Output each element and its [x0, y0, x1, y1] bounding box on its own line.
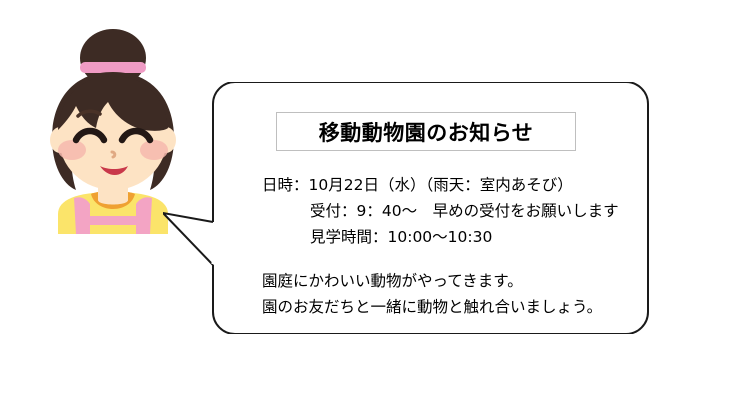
info-line-viewing-time: 見学時間：10:00～10:30	[262, 224, 642, 250]
message-line-2: 園のお友だちと一緒に動物と触れ合いましょう。	[262, 294, 642, 320]
notice-message-block: 園庭にかわいい動物がやってきます。 園のお友だちと一緒に動物と触れ合いましょう。	[262, 268, 642, 320]
notice-title-box: 移動動物園のお知らせ	[276, 112, 576, 151]
bubble-content: 移動動物園のお知らせ 日時：10月22日（水）（雨天：室内あそび） 受付：9：4…	[262, 96, 642, 326]
bubble-tail	[163, 213, 213, 265]
hair-tie	[80, 62, 146, 73]
message-line-1: 園庭にかわいい動物がやってきます。	[262, 268, 642, 294]
poster-canvas: 移動動物園のお知らせ 日時：10月22日（水）（雨天：室内あそび） 受付：9：4…	[0, 0, 734, 415]
blush-left	[58, 140, 86, 160]
notice-info-block: 日時：10月22日（水）（雨天：室内あそび） 受付：9：40～ 早めの受付をお願…	[262, 172, 642, 250]
info-line-date: 日時：10月22日（水）（雨天：室内あそび）	[262, 172, 642, 198]
speech-bubble: 移動動物園のお知らせ 日時：10月22日（水）（雨天：室内あそび） 受付：9：4…	[163, 82, 653, 334]
notice-title: 移動動物園のお知らせ	[319, 117, 534, 147]
info-line-reception: 受付：9：40～ 早めの受付をお願いします	[262, 198, 642, 224]
